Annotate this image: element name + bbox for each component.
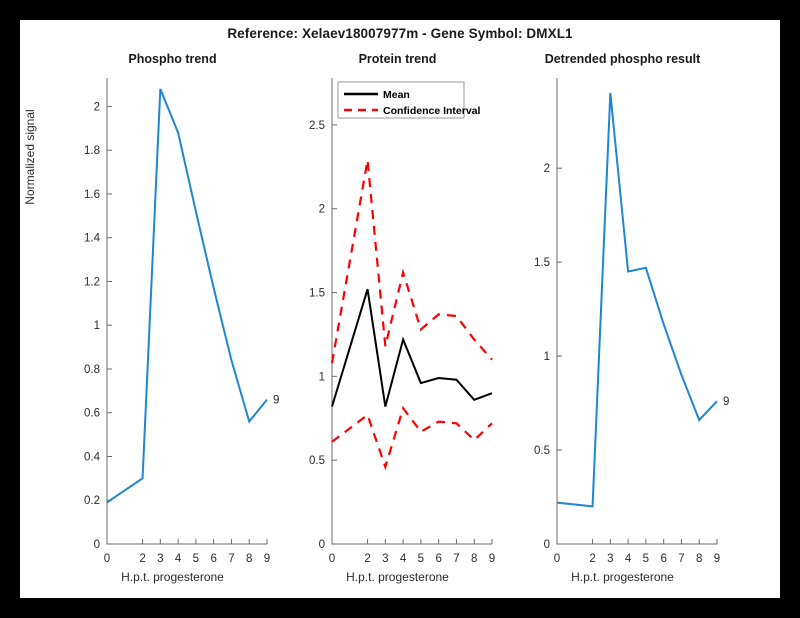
svg-text:7: 7 bbox=[228, 553, 234, 565]
svg-text:9: 9 bbox=[489, 553, 495, 565]
panel-3-xlabel: H.p.t. progesterone bbox=[515, 570, 730, 584]
svg-text:0.5: 0.5 bbox=[534, 445, 550, 457]
panel-1-xlabel: H.p.t. progesterone bbox=[65, 570, 280, 584]
svg-text:1: 1 bbox=[319, 371, 325, 383]
svg-text:2: 2 bbox=[589, 553, 595, 565]
svg-text:4: 4 bbox=[400, 553, 407, 565]
svg-text:0: 0 bbox=[94, 539, 100, 551]
svg-text:6: 6 bbox=[435, 553, 441, 565]
svg-text:8: 8 bbox=[696, 553, 702, 565]
svg-text:1.4: 1.4 bbox=[84, 233, 101, 245]
svg-text:1.8: 1.8 bbox=[84, 145, 100, 157]
svg-text:1: 1 bbox=[94, 320, 100, 332]
svg-text:920: 920 bbox=[723, 396, 730, 408]
svg-text:6: 6 bbox=[210, 553, 216, 565]
svg-text:2.5: 2.5 bbox=[309, 120, 325, 132]
svg-text:7: 7 bbox=[678, 553, 684, 565]
svg-text:1.6: 1.6 bbox=[84, 189, 100, 201]
svg-text:2: 2 bbox=[94, 101, 100, 113]
svg-text:0: 0 bbox=[104, 553, 110, 565]
panel-2-plot: 00.511.522.5023456789MeanConfidence Inte… bbox=[290, 50, 505, 590]
svg-text:1.5: 1.5 bbox=[534, 257, 550, 269]
svg-text:5: 5 bbox=[418, 553, 424, 565]
figure-title: Reference: Xelaev18007977m - Gene Symbol… bbox=[20, 26, 780, 41]
panel-3-plot: 00.511.52023456789920 bbox=[515, 50, 730, 590]
svg-text:8: 8 bbox=[471, 553, 477, 565]
svg-text:0: 0 bbox=[554, 553, 560, 565]
svg-text:0.8: 0.8 bbox=[84, 364, 100, 376]
svg-text:7: 7 bbox=[453, 553, 459, 565]
svg-text:5: 5 bbox=[643, 553, 649, 565]
svg-text:6: 6 bbox=[660, 553, 666, 565]
svg-text:9: 9 bbox=[264, 553, 270, 565]
svg-text:2: 2 bbox=[364, 553, 370, 565]
svg-text:Confidence Interval: Confidence Interval bbox=[383, 105, 481, 117]
svg-text:0: 0 bbox=[544, 539, 550, 551]
svg-text:4: 4 bbox=[625, 553, 632, 565]
svg-text:1.5: 1.5 bbox=[309, 288, 325, 300]
svg-text:8: 8 bbox=[246, 553, 252, 565]
svg-text:0.5: 0.5 bbox=[309, 455, 325, 467]
svg-text:0: 0 bbox=[319, 539, 325, 551]
svg-text:0: 0 bbox=[329, 553, 335, 565]
svg-text:2: 2 bbox=[139, 553, 145, 565]
svg-text:3: 3 bbox=[382, 553, 388, 565]
svg-text:3: 3 bbox=[157, 553, 163, 565]
svg-text:1: 1 bbox=[544, 351, 550, 363]
svg-text:4: 4 bbox=[175, 553, 182, 565]
svg-text:0.6: 0.6 bbox=[84, 408, 100, 420]
svg-text:0.4: 0.4 bbox=[84, 451, 101, 463]
panel-detrended-phospho-result: Detrended phospho result 00.511.52023456… bbox=[515, 50, 730, 590]
svg-text:Mean: Mean bbox=[383, 89, 410, 101]
svg-text:0.2: 0.2 bbox=[84, 495, 100, 507]
panel-2-xlabel: H.p.t. progesterone bbox=[290, 570, 505, 584]
svg-text:2: 2 bbox=[544, 163, 550, 175]
figure-window: Reference: Xelaev18007977m - Gene Symbol… bbox=[20, 20, 780, 598]
panel-phospho-trend: Phospho trend 00.20.40.60.811.21.41.61.8… bbox=[65, 50, 280, 590]
y-axis-label: Normalized signal bbox=[23, 17, 37, 297]
svg-text:2: 2 bbox=[319, 204, 325, 216]
svg-text:1.2: 1.2 bbox=[84, 276, 100, 288]
svg-text:5: 5 bbox=[193, 553, 199, 565]
svg-text:9: 9 bbox=[714, 553, 720, 565]
svg-text:920: 920 bbox=[273, 395, 280, 407]
panel-protein-trend: Protein trend 00.511.522.5023456789MeanC… bbox=[290, 50, 505, 590]
svg-text:3: 3 bbox=[607, 553, 613, 565]
panel-1-plot: 00.20.40.60.811.21.41.61.82023456789920 bbox=[65, 50, 280, 590]
